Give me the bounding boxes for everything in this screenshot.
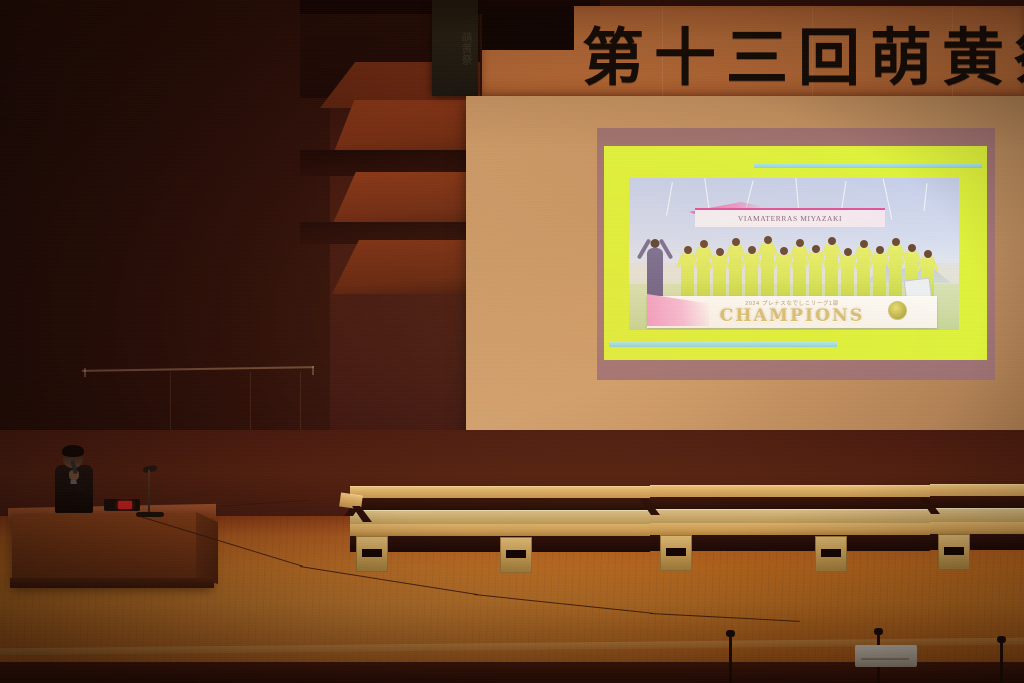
slide-accent-bar-top	[754, 163, 982, 168]
presentation-slide: VIAMATERRAS MIYAZAKI	[604, 146, 987, 360]
champions-banner-pink-graphic	[647, 294, 709, 326]
stage-monitor-speaker	[855, 645, 917, 667]
photo-coach	[647, 248, 663, 302]
photo-champions-banner: 2024 プレナスなでしこリーグ1部 CHAMPIONS	[647, 296, 937, 328]
auditorium-stage-photo: 萌黄祭 第十三回萌黄祭 VIAMATER	[0, 0, 1024, 683]
presenter	[54, 446, 96, 512]
photo-player	[841, 256, 854, 298]
podium-table	[12, 514, 212, 586]
champions-title: CHAMPIONS	[720, 308, 865, 325]
microphone-stand	[148, 470, 150, 516]
podium-side-panel	[196, 512, 218, 584]
photo-player	[729, 246, 742, 298]
photo-player	[825, 245, 838, 298]
coach-arm-left	[637, 238, 651, 259]
control-device[interactable]	[104, 499, 140, 511]
wall-dark-left-section	[0, 0, 330, 430]
photo-player	[793, 247, 806, 298]
club-crest-icon	[888, 301, 907, 320]
photo-club-banner: VIAMATERRAS MIYAZAKI	[695, 208, 885, 227]
coach-arm-right	[659, 238, 673, 259]
photo-club-banner-text: VIAMATERRAS MIYAZAKI	[738, 214, 842, 223]
presenter-hair	[62, 445, 84, 457]
hanging-banner: 萌黄祭	[432, 0, 478, 96]
photo-player	[761, 244, 774, 298]
photo-player	[809, 253, 822, 298]
wall-rail-tick-right	[312, 366, 314, 375]
riser-leg	[815, 536, 847, 572]
riser-leg	[356, 536, 388, 572]
slide-photo: VIAMATERRAS MIYAZAKI	[629, 178, 959, 330]
slide-accent-bar-bottom	[609, 342, 837, 347]
photo-player	[697, 248, 710, 298]
device-indicator-light	[118, 501, 132, 509]
photo-player	[777, 255, 790, 298]
podium-base-trim	[10, 578, 214, 588]
banner-dark-edge	[482, 6, 574, 50]
riser-leg	[660, 535, 692, 571]
photo-player	[889, 246, 902, 298]
photo-player	[745, 254, 758, 298]
festival-banner-text: 第十三回萌黄祭	[582, 8, 1024, 96]
hanging-banner-text: 萌黄祭	[438, 6, 472, 90]
wall-rail-tick-left	[84, 368, 86, 377]
photo-player	[857, 248, 870, 298]
festival-banner: 第十三回萌黄祭	[482, 6, 1024, 98]
monitor-grille-line	[861, 658, 909, 660]
photo-player	[713, 256, 726, 298]
riser-leg	[938, 534, 970, 570]
photo-player	[873, 254, 886, 298]
riser-leg	[500, 537, 532, 573]
